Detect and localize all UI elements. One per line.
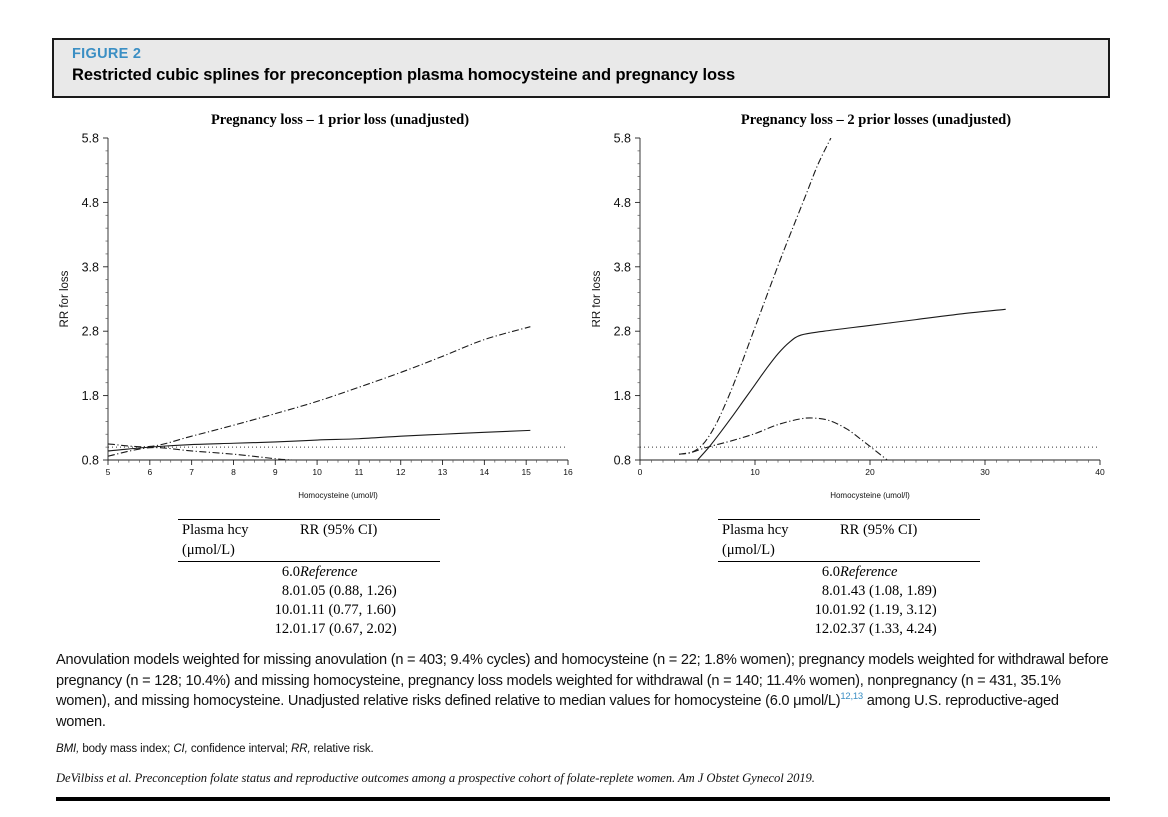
cell-plasma-hcy: 8.0	[178, 581, 300, 600]
cell-rr-ci: 1.05 (0.88, 1.26)	[300, 581, 440, 600]
x-axis-tick-label: 6	[147, 467, 152, 477]
plot-area-left: 0.81.82.83.84.85.85678910111213141516RR …	[52, 128, 592, 508]
cell-rr-ci: Reference	[840, 562, 980, 582]
y-axis-tick-label: 4.8	[82, 196, 99, 210]
table-header-row-units: (μmol/L)	[178, 540, 440, 562]
cell-plasma-hcy: 8.0	[718, 581, 840, 600]
chart-title-right: Pregnancy loss – 2 prior losses (unadjus…	[592, 112, 1132, 129]
cell-rr-ci: 1.11 (0.77, 1.60)	[300, 600, 440, 619]
cell-plasma-hcy: 12.0	[178, 619, 300, 638]
y-axis-tick-label: 2.8	[614, 325, 631, 339]
x-axis-tick-label: 13	[438, 467, 448, 477]
table-row: 6.0Reference	[178, 562, 440, 582]
y-axis-tick-label: 1.8	[614, 389, 631, 403]
spline-curve	[108, 327, 530, 447]
header-spacer	[300, 540, 440, 562]
y-axis-tick-label: 0.8	[614, 454, 631, 468]
spline-curve	[108, 448, 292, 460]
y-axis-tick-label: 0.8	[82, 454, 99, 468]
x-axis-title: Homocysteine (umol/l)	[830, 491, 910, 500]
table-row: 12.02.37 (1.33, 4.24)	[718, 619, 980, 638]
cell-rr-ci: Reference	[300, 562, 440, 582]
cell-plasma-hcy: 10.0	[718, 600, 840, 619]
chart-title-left: Pregnancy loss – 1 prior loss (unadjuste…	[52, 112, 592, 129]
citation-superscript: 12,13	[840, 691, 863, 702]
table-row: 10.01.92 (1.19, 3.12)	[718, 600, 980, 619]
abbreviations-line: BMI, body mass index; CI, confidence int…	[56, 741, 1110, 757]
spline-curve	[679, 418, 887, 460]
cell-plasma-hcy: 6.0	[718, 562, 840, 582]
cell-rr-ci: 1.17 (0.67, 2.02)	[300, 619, 440, 638]
spline-curve	[679, 138, 831, 454]
figure-title: Restricted cubic splines for preconcepti…	[72, 64, 1108, 87]
footnote-paragraph: Anovulation models weighted for missing …	[56, 650, 1110, 732]
figure-header-band: FIGURE 2 Restricted cubic splines for pr…	[52, 38, 1110, 98]
y-axis-tick-label: 4.8	[614, 196, 631, 210]
cell-plasma-hcy: 6.0	[178, 562, 300, 582]
x-axis-tick-label: 7	[189, 467, 194, 477]
x-axis-tick-label: 15	[521, 467, 531, 477]
y-axis-tick-label: 5.8	[82, 132, 99, 146]
header-rr-ci: RR (95% CI)	[300, 520, 440, 541]
stats-table-right: Plasma hcy RR (95% CI) (μmol/L) 6.0Refer…	[718, 519, 980, 638]
x-axis-tick-label: 30	[980, 467, 990, 477]
header-plasma-hcy-units: (μmol/L)	[718, 540, 840, 562]
x-axis-tick-label: 5	[106, 467, 111, 477]
chart-panel-right: Pregnancy loss – 2 prior losses (unadjus…	[592, 110, 1132, 510]
table-header-row-units: (μmol/L)	[718, 540, 980, 562]
x-axis-tick-label: 10	[312, 467, 322, 477]
x-axis-tick-label: 11	[354, 467, 363, 477]
y-axis-tick-label: 1.8	[82, 389, 99, 403]
bottom-divider-rule	[56, 797, 1110, 801]
x-axis-tick-label: 20	[865, 467, 875, 477]
table-body-right: 6.0Reference8.01.43 (1.08, 1.89)10.01.92…	[718, 562, 980, 639]
source-citation: DeVilbiss et al. Preconception folate st…	[56, 770, 1110, 787]
y-axis-tick-label: 3.8	[614, 260, 631, 274]
spline-curve	[108, 430, 530, 451]
footnote-block: Anovulation models weighted for missing …	[56, 650, 1110, 787]
cell-rr-ci: 1.92 (1.19, 3.12)	[840, 600, 980, 619]
x-axis-tick-label: 14	[480, 467, 490, 477]
abbrev-definition: relative risk.	[311, 743, 374, 755]
cell-rr-ci: 2.37 (1.33, 4.24)	[840, 619, 980, 638]
table-header-row: Plasma hcy RR (95% CI)	[178, 520, 440, 541]
x-axis-tick-label: 9	[273, 467, 278, 477]
table-row: 12.01.17 (0.67, 2.02)	[178, 619, 440, 638]
x-axis-tick-label: 10	[750, 467, 760, 477]
abbrev-definition: confidence interval;	[188, 743, 291, 755]
header-plasma-hcy: Plasma hcy	[718, 520, 840, 541]
table-row: 10.01.11 (0.77, 1.60)	[178, 600, 440, 619]
header-spacer	[840, 540, 980, 562]
header-rr-ci: RR (95% CI)	[840, 520, 980, 541]
figure-number-label: FIGURE 2	[72, 45, 1108, 64]
table-row: 8.01.43 (1.08, 1.89)	[718, 581, 980, 600]
header-plasma-hcy: Plasma hcy	[178, 520, 300, 541]
table-row: 6.0Reference	[718, 562, 980, 582]
table-body-left: 6.0Reference8.01.05 (0.88, 1.26)10.01.11…	[178, 562, 440, 639]
abbrev-definition: body mass index;	[79, 743, 173, 755]
table-header-row: Plasma hcy RR (95% CI)	[718, 520, 980, 541]
table-row: 8.01.05 (0.88, 1.26)	[178, 581, 440, 600]
chart-panel-left: Pregnancy loss – 1 prior loss (unadjuste…	[52, 110, 592, 510]
x-axis-tick-label: 8	[231, 467, 236, 477]
cell-rr-ci: 1.43 (1.08, 1.89)	[840, 581, 980, 600]
stats-table-left: Plasma hcy RR (95% CI) (μmol/L) 6.0Refer…	[178, 519, 440, 638]
abbrev-term: BMI,	[56, 743, 79, 755]
x-axis-tick-label: 0	[638, 467, 643, 477]
x-axis-tick-label: 40	[1095, 467, 1105, 477]
x-axis-title: Homocysteine (umol/l)	[298, 491, 378, 500]
y-axis-title: RR for loss	[592, 270, 603, 327]
plot-area-right: 0.81.82.83.84.85.8010203040RR for lossHo…	[592, 128, 1132, 508]
y-axis-tick-label: 3.8	[82, 260, 99, 274]
header-plasma-hcy-units: (μmol/L)	[178, 540, 300, 562]
x-axis-tick-label: 12	[396, 467, 406, 477]
y-axis-title: RR for loss	[59, 270, 71, 327]
abbrev-term: RR,	[291, 743, 311, 755]
y-axis-tick-label: 5.8	[614, 132, 631, 146]
abbrev-term: CI,	[173, 743, 187, 755]
cell-plasma-hcy: 10.0	[178, 600, 300, 619]
cell-plasma-hcy: 12.0	[718, 619, 840, 638]
x-axis-tick-label: 16	[563, 467, 573, 477]
y-axis-tick-label: 2.8	[82, 325, 99, 339]
